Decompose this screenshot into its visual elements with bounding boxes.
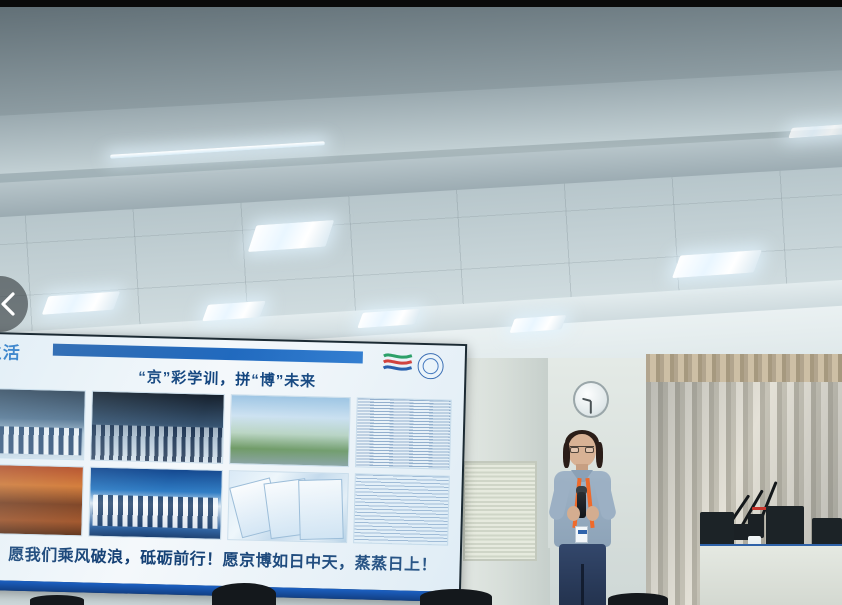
slide-header-rule: [53, 344, 363, 364]
conference-room-scene: 生活 “京”彩学训，拼“博”未来: [0, 6, 842, 605]
presentation-slide: 生活 “京”彩学训，拼“博”未来: [0, 334, 465, 592]
projection-screen-frame: 生活 “京”彩学训，拼“博”未来: [0, 332, 467, 602]
audience-head-2: [420, 589, 492, 605]
microphone-base-unit-2: [748, 514, 764, 538]
photo-training-session: [90, 391, 225, 464]
photo-typed-report: [353, 473, 450, 545]
photo-plant-aerial: [229, 394, 351, 467]
presenter-hair-left: [563, 442, 570, 468]
photo-factory-tour-line: [0, 388, 86, 461]
wall-ventilation-grille: [463, 461, 537, 561]
presenter-id-badge: [575, 526, 588, 543]
audience-head-1: [212, 583, 276, 605]
photo-row-1: [0, 388, 452, 470]
slide-eyebrow-text: 生活: [0, 338, 21, 364]
presenter-leg-separation: [581, 564, 584, 605]
podium-desk: [700, 546, 842, 605]
photo-certificates: [227, 470, 349, 543]
projection-screen: 生活 “京”彩学训，拼“博”未来: [0, 334, 465, 592]
letterbox-bar-top: [0, 0, 842, 7]
presentation-photo-viewer: 生活 “京”彩学训，拼“博”未来: [0, 0, 842, 605]
presenter-hand-right: [586, 506, 599, 521]
curtain-valance: [646, 354, 842, 382]
presenter-speaker: [548, 434, 618, 605]
presenter-hand-left: [567, 506, 580, 521]
audience-head-4: [30, 595, 84, 605]
presenter-hair-right: [596, 442, 603, 468]
chevron-left-icon: [0, 291, 17, 317]
slide-photo-grid: [0, 388, 452, 552]
wall-clock: [573, 381, 609, 418]
monitor-center: [766, 506, 804, 548]
photo-handwritten-notes: [355, 397, 452, 469]
photo-cafeteria-food: [0, 464, 84, 537]
presenter-glasses: [570, 446, 594, 452]
audience-head-3: [608, 593, 668, 605]
clock-minute-hand: [590, 400, 592, 413]
photo-group-stage: [88, 467, 223, 540]
photo-row-2: [0, 464, 450, 546]
